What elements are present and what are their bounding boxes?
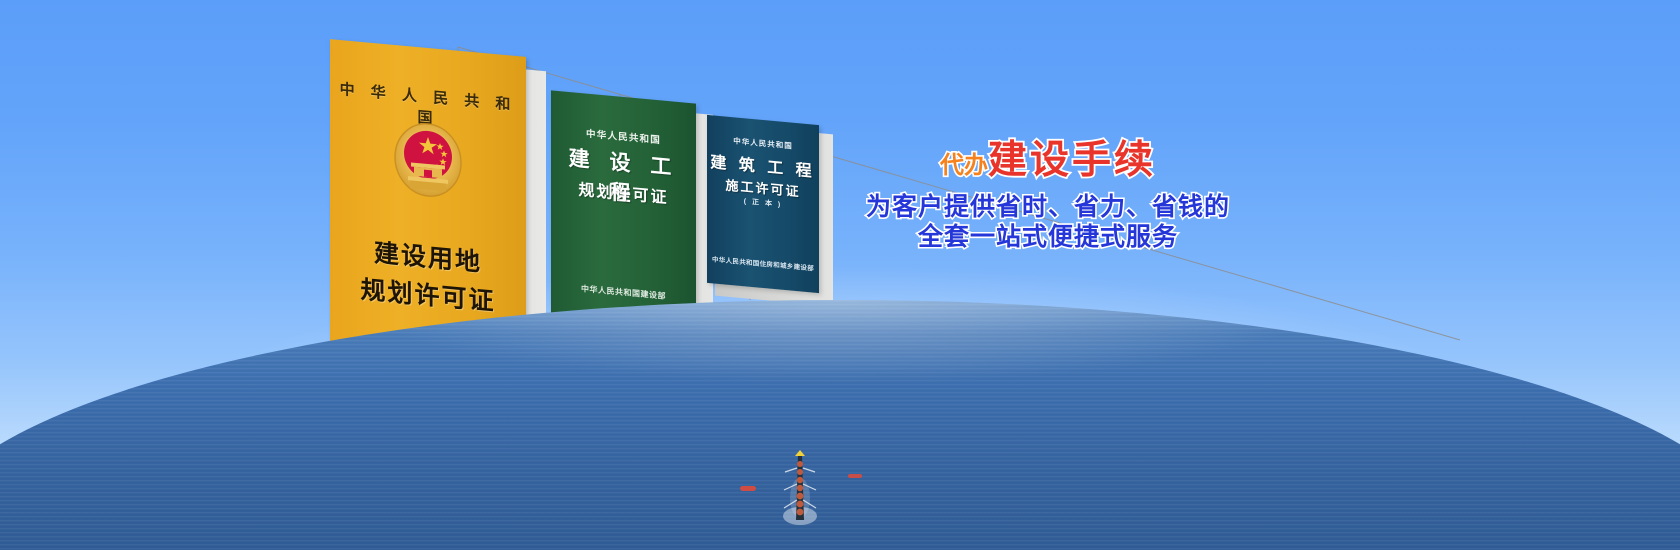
- harbor-water: [0, 300, 1680, 550]
- certificate-footer-text: 中华人民共和国住房和城乡建设部: [707, 253, 819, 273]
- headline-subtitle-line-1: 为客户提供省时、省力、省钱的: [838, 192, 1258, 223]
- promo-banner: 中 华 人 民 共 和 国: [0, 0, 1680, 550]
- dragon-boat-icon: [780, 450, 820, 528]
- buoy-marker: [848, 474, 862, 478]
- headline-subtitle: 为客户提供省时、省力、省钱的 全套一站式便捷式服务: [838, 192, 1258, 253]
- certificate-construction-work-permit: 中华人民共和国 建 筑 工 程 施工许可证 ( 正 本 ) 中华人民共和国住房和…: [707, 120, 832, 300]
- buoy-marker: [740, 486, 756, 491]
- national-emblem-icon: [390, 117, 466, 204]
- headline-main: 代办建设手续: [838, 140, 1258, 183]
- certificate-cover: 中华人民共和国 建 设 工 程 规划许可证 中华人民共和国建设部: [551, 90, 696, 329]
- certificate-cover: 中华人民共和国 建 筑 工 程 施工许可证 ( 正 本 ) 中华人民共和国住房和…: [707, 115, 819, 293]
- headline-block: 代办建设手续 为客户提供省时、省力、省钱的 全套一站式便捷式服务: [838, 140, 1258, 253]
- water-sun-highlight: [0, 300, 1680, 450]
- headline-prefix: 代办: [940, 152, 988, 179]
- headline-title: 建设手续: [988, 139, 1156, 182]
- headline-subtitle-line-2: 全套一站式便捷式服务: [838, 222, 1258, 253]
